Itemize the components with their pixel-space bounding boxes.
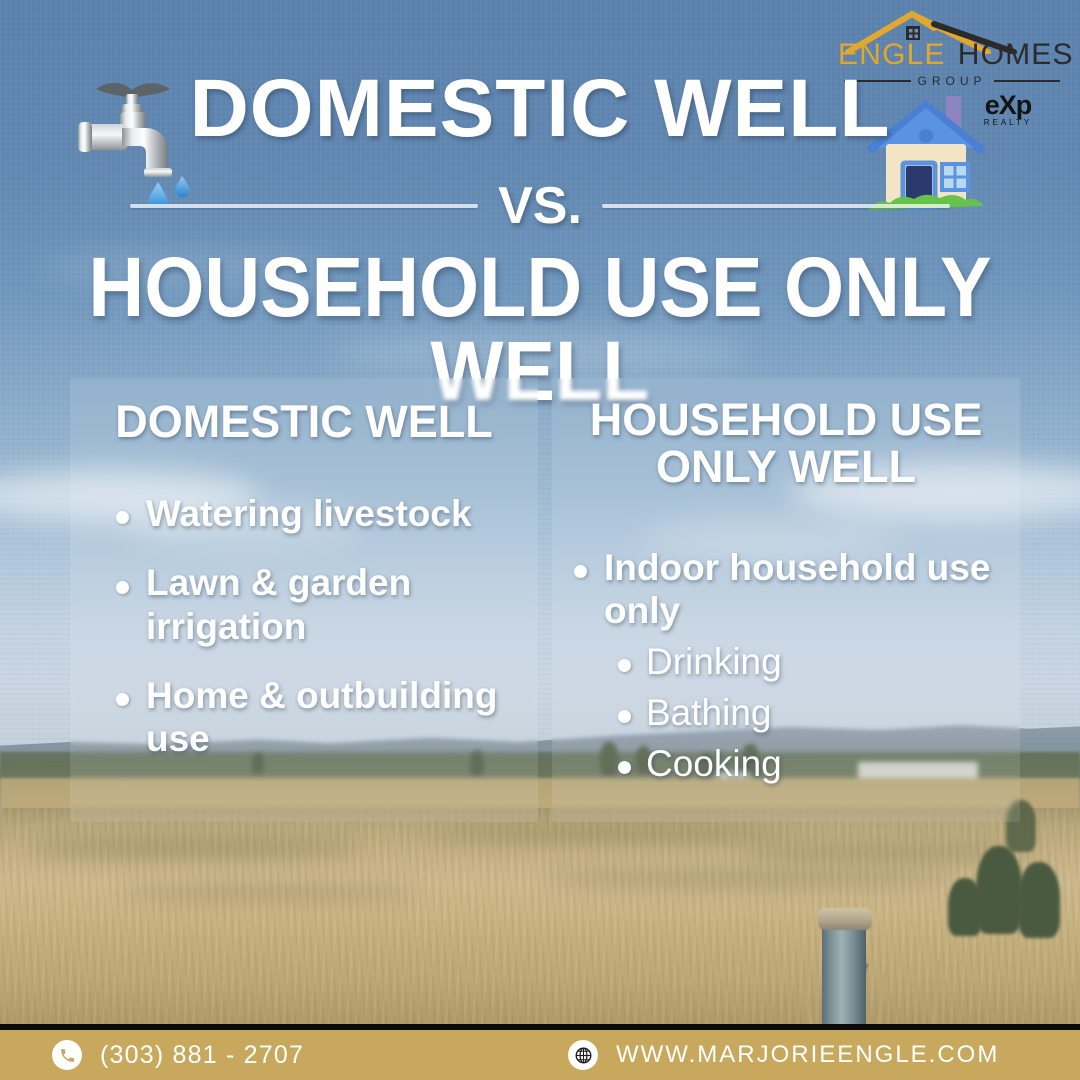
versus-line-left bbox=[130, 204, 478, 208]
field-shadow bbox=[430, 828, 790, 842]
versus-line-right bbox=[602, 204, 950, 208]
versus-label: VS. bbox=[498, 180, 582, 232]
versus-divider: VS. bbox=[130, 176, 950, 236]
globe-icon bbox=[568, 1040, 598, 1070]
sublist-item: Bathing bbox=[604, 690, 1016, 735]
list-item-label: Indoor household use only bbox=[604, 547, 990, 631]
footer-website-item[interactable]: WWW.MARJORIEENGLE.COM bbox=[568, 1030, 999, 1080]
conifer-tree bbox=[948, 878, 982, 936]
list-item: Home & outbuilding use bbox=[108, 674, 538, 761]
footer-website-url: WWW.MARJORIEENGLE.COM bbox=[616, 1041, 999, 1069]
sublist-indoor-uses: Drinking Bathing Cooking bbox=[604, 639, 1016, 786]
conifer-tree bbox=[976, 846, 1022, 934]
list-item-label: Watering livestock bbox=[146, 493, 472, 534]
sublist-item: Cooking bbox=[604, 741, 1016, 786]
fence-post bbox=[822, 920, 866, 1032]
column-heading-domestic-well: DOMESTIC WELL bbox=[70, 398, 538, 445]
footer-phone-number: (303) 881 - 2707 bbox=[100, 1041, 304, 1070]
infographic-canvas: ENGLEHOMES GROUP eXp REALTY bbox=[0, 0, 1080, 1080]
fence-post-cap bbox=[818, 908, 872, 930]
field-shadow bbox=[540, 872, 960, 888]
logo-brand-secondary: HOMES bbox=[958, 38, 1074, 71]
list-item-label: Lawn & garden irrigation bbox=[146, 562, 411, 646]
footer-phone-item[interactable]: (303) 881 - 2707 bbox=[52, 1030, 304, 1080]
sublist-item: Drinking bbox=[604, 639, 1016, 684]
hero-title: DOMESTIC WELL bbox=[0, 68, 1080, 150]
list-item: Lawn & garden irrigation bbox=[108, 561, 538, 648]
conifer-tree bbox=[1018, 862, 1060, 938]
field-shadow bbox=[30, 840, 360, 858]
list-item-label: Home & outbuilding use bbox=[146, 675, 497, 759]
list-household-use-only-well: Indoor household use only Drinking Bathi… bbox=[566, 546, 1016, 792]
contact-footer-bar: (303) 881 - 2707 WWW.MARJORIEENGLE.COM bbox=[0, 1030, 1080, 1080]
list-item: Watering livestock bbox=[108, 492, 538, 535]
list-domestic-well: Watering livestock Lawn & garden irrigat… bbox=[108, 492, 538, 786]
column-heading-household-use-only-well: HOUSEHOLD USE ONLY WELL bbox=[552, 396, 1020, 491]
phone-icon bbox=[52, 1040, 82, 1070]
field-shadow bbox=[120, 886, 420, 899]
list-item: Indoor household use only Drinking Bathi… bbox=[566, 546, 1016, 786]
